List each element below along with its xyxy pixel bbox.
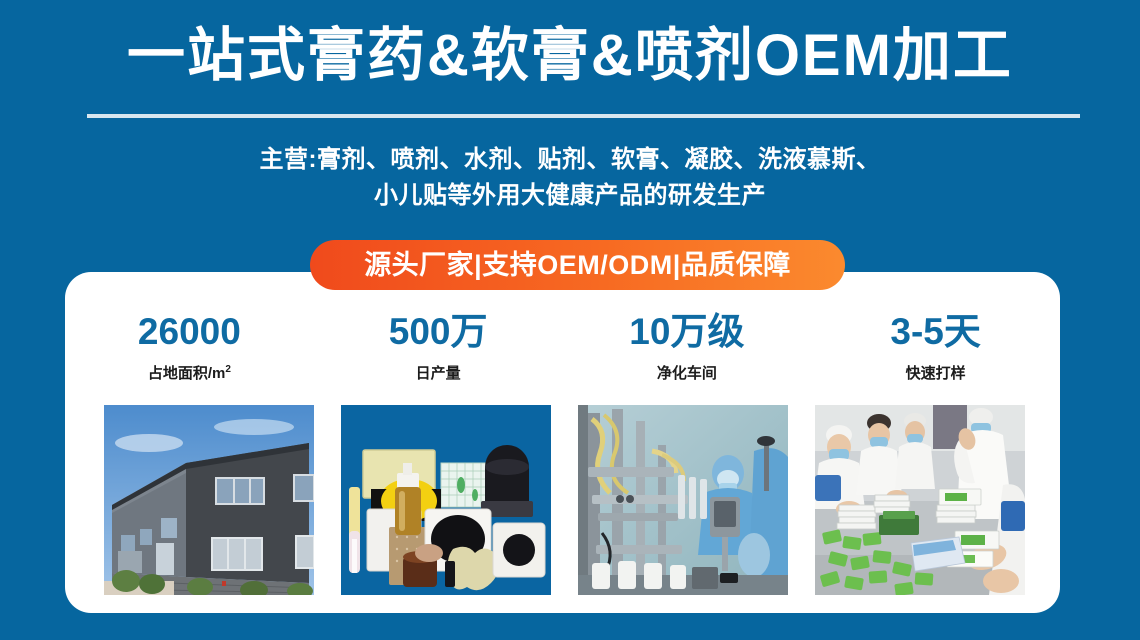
title-divider: [87, 114, 1080, 118]
subtitle-line-1: 主营:膏剂、喷剂、水剂、贴剂、软膏、凝胶、洗液慕斯、: [0, 142, 1140, 178]
stat-label-text: 日产量: [416, 365, 461, 382]
stats-card: 26000 占地面积/m2 500万 日产量 10万级 净化车间 3-5天 快速…: [65, 272, 1060, 613]
stat-label: 净化车间: [563, 360, 812, 384]
cleanroom-production-line-photo: [578, 405, 788, 595]
stat-item-land-area: 26000 占地面积/m2: [65, 310, 314, 384]
stat-label-text: 净化车间: [657, 365, 717, 382]
stat-value: 3-5天: [811, 310, 1060, 354]
page-title: 一站式膏药&软膏&喷剂OEM加工: [0, 20, 1140, 92]
subtitle-line-2: 小儿贴等外用大健康产品的研发生产: [0, 178, 1140, 214]
factory-building-photo: [104, 405, 314, 595]
stat-label-text: 快速打样: [906, 365, 966, 382]
stat-label: 快速打样: [811, 360, 1060, 384]
packaging-workers-photo: [815, 405, 1025, 595]
stat-value: 26000: [65, 310, 314, 354]
subtitle-block: 主营:膏剂、喷剂、水剂、贴剂、软膏、凝胶、洗液慕斯、 小儿贴等外用大健康产品的研…: [0, 142, 1140, 214]
stat-label-superscript: 2: [225, 364, 231, 375]
stats-row: 26000 占地面积/m2 500万 日产量 10万级 净化车间 3-5天 快速…: [65, 310, 1060, 384]
stat-label-text: 占地面积/m: [148, 365, 226, 382]
status-badge: 源头厂家|支持OEM/ODM|品质保障: [310, 240, 845, 290]
stat-label: 日产量: [314, 360, 563, 384]
photo-strip: [104, 405, 1055, 595]
stat-item-cleanroom: 10万级 净化车间: [563, 310, 812, 384]
stat-item-sampling-time: 3-5天 快速打样: [811, 310, 1060, 384]
stat-item-daily-output: 500万 日产量: [314, 310, 563, 384]
stat-label: 占地面积/m2: [65, 360, 314, 384]
stat-value: 500万: [314, 310, 563, 354]
stat-value: 10万级: [563, 310, 812, 354]
promotional-banner: 一站式膏药&软膏&喷剂OEM加工 主营:膏剂、喷剂、水剂、贴剂、软膏、凝胶、洗液…: [0, 0, 1140, 640]
product-lineup-photo: [341, 405, 551, 595]
